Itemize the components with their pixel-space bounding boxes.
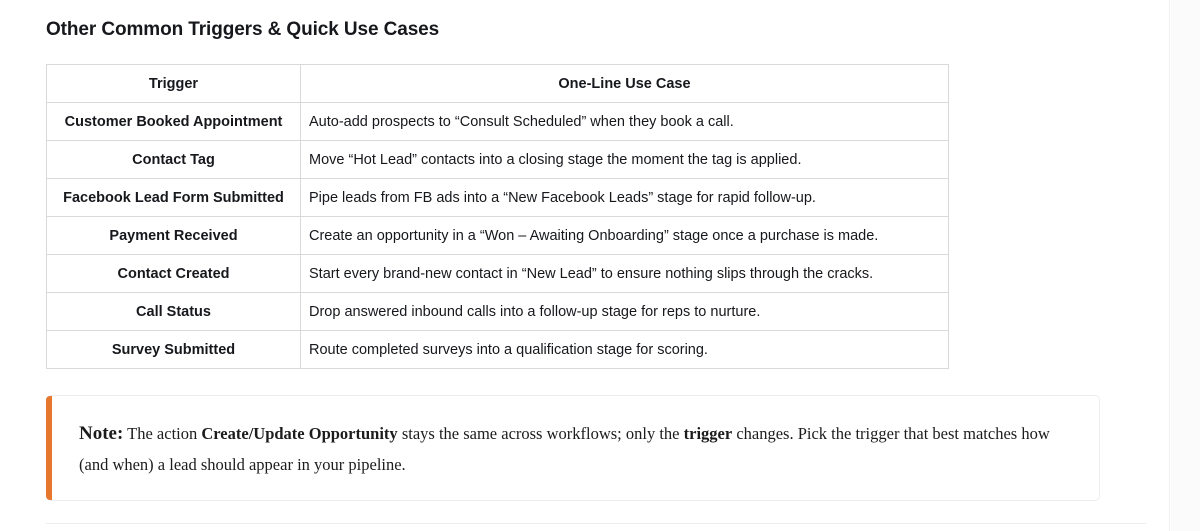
table-row: Contact Created Start every brand-new co… (47, 255, 949, 293)
note-accent-bar (46, 396, 52, 500)
note-callout: Note: The action Create/Update Opportuni… (46, 395, 1100, 501)
note-part-1: The action (123, 424, 201, 443)
column-header-use-case: One-Line Use Case (301, 65, 949, 103)
cell-use-case: Drop answered inbound calls into a follo… (301, 293, 949, 331)
cell-trigger: Customer Booked Appointment (47, 103, 301, 141)
cell-trigger: Contact Tag (47, 141, 301, 179)
cell-use-case: Pipe leads from FB ads into a “New Faceb… (301, 179, 949, 217)
table-row: Payment Received Create an opportunity i… (47, 217, 949, 255)
cell-use-case: Start every brand-new contact in “New Le… (301, 255, 949, 293)
cell-use-case: Move “Hot Lead” contacts into a closing … (301, 141, 949, 179)
table-row: Call Status Drop answered inbound calls … (47, 293, 949, 331)
cell-trigger: Facebook Lead Form Submitted (47, 179, 301, 217)
note-part-2: stays the same across workflows; only th… (398, 424, 684, 443)
note-text: Note: The action Create/Update Opportuni… (79, 418, 1073, 480)
cell-use-case: Auto-add prospects to “Consult Scheduled… (301, 103, 949, 141)
cell-use-case: Route completed surveys into a qualifica… (301, 331, 949, 369)
triggers-use-cases-table: Trigger One-Line Use Case Customer Booke… (46, 64, 949, 369)
table-header-row: Trigger One-Line Use Case (47, 65, 949, 103)
table-row: Customer Booked Appointment Auto-add pro… (47, 103, 949, 141)
table-row: Facebook Lead Form Submitted Pipe leads … (47, 179, 949, 217)
note-label: Note: (79, 423, 123, 444)
note-bold-action: Create/Update Opportunity (201, 424, 397, 443)
bottom-divider (46, 523, 1146, 524)
page-right-gutter (1171, 0, 1200, 531)
table-body: Customer Booked Appointment Auto-add pro… (47, 103, 949, 369)
cell-trigger: Contact Created (47, 255, 301, 293)
cell-trigger: Payment Received (47, 217, 301, 255)
note-bold-trigger: trigger (684, 424, 733, 443)
column-header-trigger: Trigger (47, 65, 301, 103)
cell-trigger: Survey Submitted (47, 331, 301, 369)
cell-trigger: Call Status (47, 293, 301, 331)
table-row: Survey Submitted Route completed surveys… (47, 331, 949, 369)
content-area: Other Common Triggers & Quick Use Cases … (46, 0, 1100, 501)
table-row: Contact Tag Move “Hot Lead” contacts int… (47, 141, 949, 179)
page-title: Other Common Triggers & Quick Use Cases (46, 0, 1100, 42)
cell-use-case: Create an opportunity in a “Won – Awaiti… (301, 217, 949, 255)
